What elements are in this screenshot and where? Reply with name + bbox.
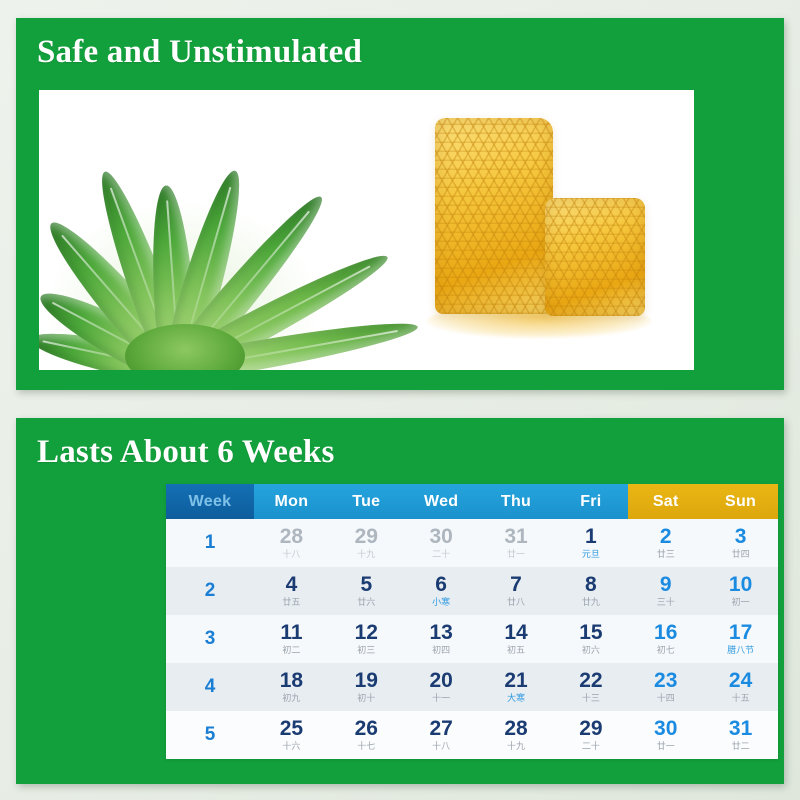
calendar-day-cell[interactable]: 30廿一 bbox=[628, 718, 703, 751]
lunar-date-label: 初六 bbox=[553, 646, 628, 655]
calendar-day-cell[interactable]: 7廿八 bbox=[479, 574, 554, 607]
calendar-day-cell[interactable]: 14初五 bbox=[479, 622, 554, 655]
day-number: 28 bbox=[479, 718, 554, 740]
lunar-date-label: 二十 bbox=[404, 550, 479, 559]
day-number: 27 bbox=[404, 718, 479, 740]
calendar-day-cell[interactable]: 26十七 bbox=[329, 718, 404, 751]
calendar-day-cell[interactable]: 5廿六 bbox=[329, 574, 404, 607]
lunar-date-label: 大寒 bbox=[479, 694, 554, 703]
calendar-body: 128十八29十九30二十31廿一1元旦2廿三3廿四24廿五5廿六6小寒7廿八8… bbox=[166, 519, 778, 759]
lunar-date-label: 腊八节 bbox=[703, 646, 778, 655]
calendar-day-cell[interactable]: 3廿四 bbox=[703, 526, 778, 559]
calendar-header-tue[interactable]: Tue bbox=[329, 484, 404, 519]
honeycomb-illustration bbox=[417, 112, 672, 357]
week-number: 4 bbox=[166, 676, 254, 698]
day-number: 26 bbox=[329, 718, 404, 740]
day-number: 1 bbox=[553, 526, 628, 548]
day-number: 21 bbox=[479, 670, 554, 692]
calendar-header-fri[interactable]: Fri bbox=[553, 484, 628, 519]
day-number: 29 bbox=[553, 718, 628, 740]
lunar-date-label: 初五 bbox=[479, 646, 554, 655]
lunar-date-label: 廿五 bbox=[254, 598, 329, 607]
lunar-date-label: 廿二 bbox=[703, 742, 778, 751]
lunar-date-label: 廿六 bbox=[329, 598, 404, 607]
product-hero-image bbox=[39, 90, 694, 370]
calendar-day-cell[interactable]: 2廿三 bbox=[628, 526, 703, 559]
day-number: 8 bbox=[553, 574, 628, 596]
lunar-date-label: 初二 bbox=[254, 646, 329, 655]
calendar-day-cell[interactable]: 4廿五 bbox=[254, 574, 329, 607]
lunar-date-label: 初十 bbox=[329, 694, 404, 703]
calendar-day-cell[interactable]: 21大寒 bbox=[479, 670, 554, 703]
week-number: 3 bbox=[166, 628, 254, 650]
calendar-day-cell[interactable]: 28十九 bbox=[479, 718, 554, 751]
lunar-date-label: 元旦 bbox=[553, 550, 628, 559]
honeycomb-block-large bbox=[435, 118, 553, 314]
lunar-date-label: 初三 bbox=[329, 646, 404, 655]
day-number: 22 bbox=[553, 670, 628, 692]
calendar-header-sun[interactable]: Sun bbox=[703, 484, 778, 519]
lunar-date-label: 十八 bbox=[254, 550, 329, 559]
page-title: Safe and Unstimulated bbox=[16, 18, 784, 72]
day-number: 17 bbox=[703, 622, 778, 644]
calendar-day-cell[interactable]: 12初三 bbox=[329, 622, 404, 655]
day-number: 10 bbox=[703, 574, 778, 596]
day-number: 12 bbox=[329, 622, 404, 644]
feature-panel-safe: Safe and Unstimulated bbox=[16, 18, 784, 390]
day-number: 3 bbox=[703, 526, 778, 548]
lunar-date-label: 廿三 bbox=[628, 550, 703, 559]
day-number: 28 bbox=[254, 526, 329, 548]
lunar-date-label: 廿八 bbox=[479, 598, 554, 607]
calendar-header-wed[interactable]: Wed bbox=[404, 484, 479, 519]
lunar-date-label: 十五 bbox=[703, 694, 778, 703]
lunar-date-label: 廿一 bbox=[479, 550, 554, 559]
calendar-header-row: WeekMonTueWedThuFriSatSun bbox=[166, 484, 778, 519]
lunar-date-label: 三十 bbox=[628, 598, 703, 607]
calendar-day-cell[interactable]: 31廿二 bbox=[703, 718, 778, 751]
day-number: 29 bbox=[329, 526, 404, 548]
lunar-date-label: 十九 bbox=[479, 742, 554, 751]
honeycomb-block-small bbox=[545, 198, 645, 316]
calendar-day-cell[interactable]: 17腊八节 bbox=[703, 622, 778, 655]
day-number: 20 bbox=[404, 670, 479, 692]
lunar-date-label: 廿四 bbox=[703, 550, 778, 559]
day-number: 31 bbox=[479, 526, 554, 548]
lunar-date-label: 十四 bbox=[628, 694, 703, 703]
calendar-day-cell[interactable]: 20十一 bbox=[404, 670, 479, 703]
day-number: 24 bbox=[703, 670, 778, 692]
day-number: 23 bbox=[628, 670, 703, 692]
calendar-day-cell[interactable]: 25十六 bbox=[254, 718, 329, 751]
calendar-week-row: 311初二12初三13初四14初五15初六16初七17腊八节 bbox=[166, 615, 778, 663]
calendar-day-cell[interactable]: 13初四 bbox=[404, 622, 479, 655]
calendar-day-cell[interactable]: 10初一 bbox=[703, 574, 778, 607]
day-number: 31 bbox=[703, 718, 778, 740]
week-number: 1 bbox=[166, 532, 254, 554]
lunar-date-label: 小寒 bbox=[404, 598, 479, 607]
calendar-header-week[interactable]: Week bbox=[166, 484, 254, 519]
day-number: 2 bbox=[628, 526, 703, 548]
calendar-day-cell[interactable]: 11初二 bbox=[254, 622, 329, 655]
calendar-week-row: 418初九19初十20十一21大寒22十三23十四24十五 bbox=[166, 663, 778, 711]
lunar-date-label: 初七 bbox=[628, 646, 703, 655]
lunar-date-label: 廿九 bbox=[553, 598, 628, 607]
calendar-day-cell[interactable]: 8廿九 bbox=[553, 574, 628, 607]
calendar-day-cell[interactable]: 19初十 bbox=[329, 670, 404, 703]
week-number: 5 bbox=[166, 724, 254, 746]
day-number: 19 bbox=[329, 670, 404, 692]
lunar-date-label: 二十 bbox=[553, 742, 628, 751]
calendar-day-cell[interactable]: 29二十 bbox=[553, 718, 628, 751]
calendar-day-cell[interactable]: 6小寒 bbox=[404, 574, 479, 607]
day-number: 16 bbox=[628, 622, 703, 644]
calendar-day-cell[interactable]: 15初六 bbox=[553, 622, 628, 655]
day-number: 13 bbox=[404, 622, 479, 644]
lunar-date-label: 十三 bbox=[553, 694, 628, 703]
calendar-week-row: 525十六26十七27十八28十九29二十30廿一31廿二 bbox=[166, 711, 778, 759]
calendar-day-cell[interactable]: 27十八 bbox=[404, 718, 479, 751]
day-number: 30 bbox=[628, 718, 703, 740]
feature-panel-duration: Lasts About 6 Weeks WeekMonTueWedThuFriS… bbox=[16, 418, 784, 784]
day-number: 6 bbox=[404, 574, 479, 596]
day-number: 9 bbox=[628, 574, 703, 596]
calendar-day-cell[interactable]: 30二十 bbox=[404, 526, 479, 559]
lunar-date-label: 十七 bbox=[329, 742, 404, 751]
lunar-date-label: 初九 bbox=[254, 694, 329, 703]
calendar-day-cell[interactable]: 18初九 bbox=[254, 670, 329, 703]
day-number: 5 bbox=[329, 574, 404, 596]
calendar-week-row: 128十八29十九30二十31廿一1元旦2廿三3廿四 bbox=[166, 519, 778, 567]
calendar-header-sat[interactable]: Sat bbox=[628, 484, 703, 519]
calendar-day-cell[interactable]: 1元旦 bbox=[553, 526, 628, 559]
page-subtitle: Lasts About 6 Weeks bbox=[16, 418, 784, 472]
calendar-day-cell[interactable]: 29十九 bbox=[329, 526, 404, 559]
day-number: 14 bbox=[479, 622, 554, 644]
calendar-header-mon[interactable]: Mon bbox=[254, 484, 329, 519]
lunar-date-label: 十六 bbox=[254, 742, 329, 751]
lunar-date-label: 廿一 bbox=[628, 742, 703, 751]
calendar-day-cell[interactable]: 31廿一 bbox=[479, 526, 554, 559]
lunar-date-label: 十九 bbox=[329, 550, 404, 559]
calendar-day-cell[interactable]: 23十四 bbox=[628, 670, 703, 703]
calendar-day-cell[interactable]: 9三十 bbox=[628, 574, 703, 607]
week-number: 2 bbox=[166, 580, 254, 602]
calendar-header-thu[interactable]: Thu bbox=[479, 484, 554, 519]
lunar-date-label: 初一 bbox=[703, 598, 778, 607]
day-number: 4 bbox=[254, 574, 329, 596]
calendar-week-row: 24廿五5廿六6小寒7廿八8廿九9三十10初一 bbox=[166, 567, 778, 615]
day-number: 18 bbox=[254, 670, 329, 692]
lunar-date-label: 十一 bbox=[404, 694, 479, 703]
aloe-plant-illustration bbox=[39, 118, 369, 370]
lunar-date-label: 初四 bbox=[404, 646, 479, 655]
calendar-day-cell[interactable]: 28十八 bbox=[254, 526, 329, 559]
calendar-day-cell[interactable]: 16初七 bbox=[628, 622, 703, 655]
calendar-day-cell[interactable]: 24十五 bbox=[703, 670, 778, 703]
lunar-date-label: 十八 bbox=[404, 742, 479, 751]
calendar-widget: WeekMonTueWedThuFriSatSun 128十八29十九30二十3… bbox=[166, 484, 778, 759]
day-number: 25 bbox=[254, 718, 329, 740]
day-number: 11 bbox=[254, 622, 329, 644]
day-number: 7 bbox=[479, 574, 554, 596]
calendar-day-cell[interactable]: 22十三 bbox=[553, 670, 628, 703]
day-number: 30 bbox=[404, 526, 479, 548]
day-number: 15 bbox=[553, 622, 628, 644]
